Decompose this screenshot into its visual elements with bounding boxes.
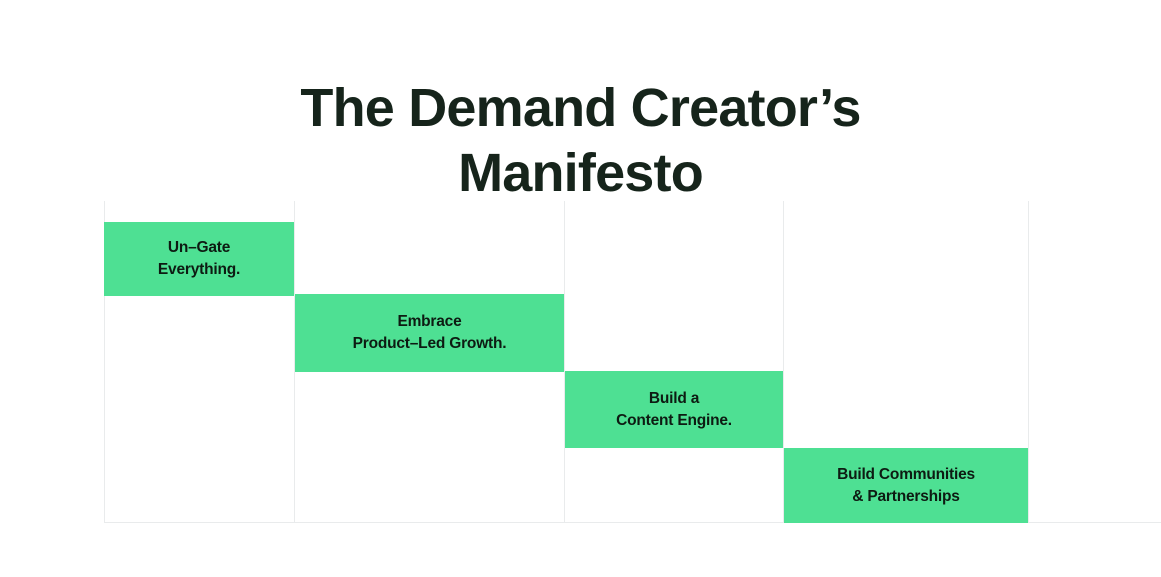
slide-canvas: The Demand Creator’s Manifesto Un–Gate E… (0, 0, 1161, 577)
gridline-vertical-5 (1028, 201, 1029, 523)
step-label-4: Build Communities & Partnerships (837, 464, 975, 508)
staircase-chart: Un–Gate Everything. Embrace Product–Led … (104, 201, 1029, 523)
page-title: The Demand Creator’s Manifesto (0, 76, 1161, 206)
step-label-1: Un–Gate Everything. (158, 237, 240, 281)
step-label-3: Build a Content Engine. (616, 388, 732, 432)
step-block-4[interactable]: Build Communities & Partnerships (784, 448, 1028, 523)
step-block-1[interactable]: Un–Gate Everything. (104, 222, 294, 296)
gridline-vertical-3 (564, 201, 565, 523)
step-block-3[interactable]: Build a Content Engine. (565, 371, 783, 448)
step-label-2: Embrace Product–Led Growth. (353, 311, 507, 355)
step-block-2[interactable]: Embrace Product–Led Growth. (295, 294, 564, 372)
